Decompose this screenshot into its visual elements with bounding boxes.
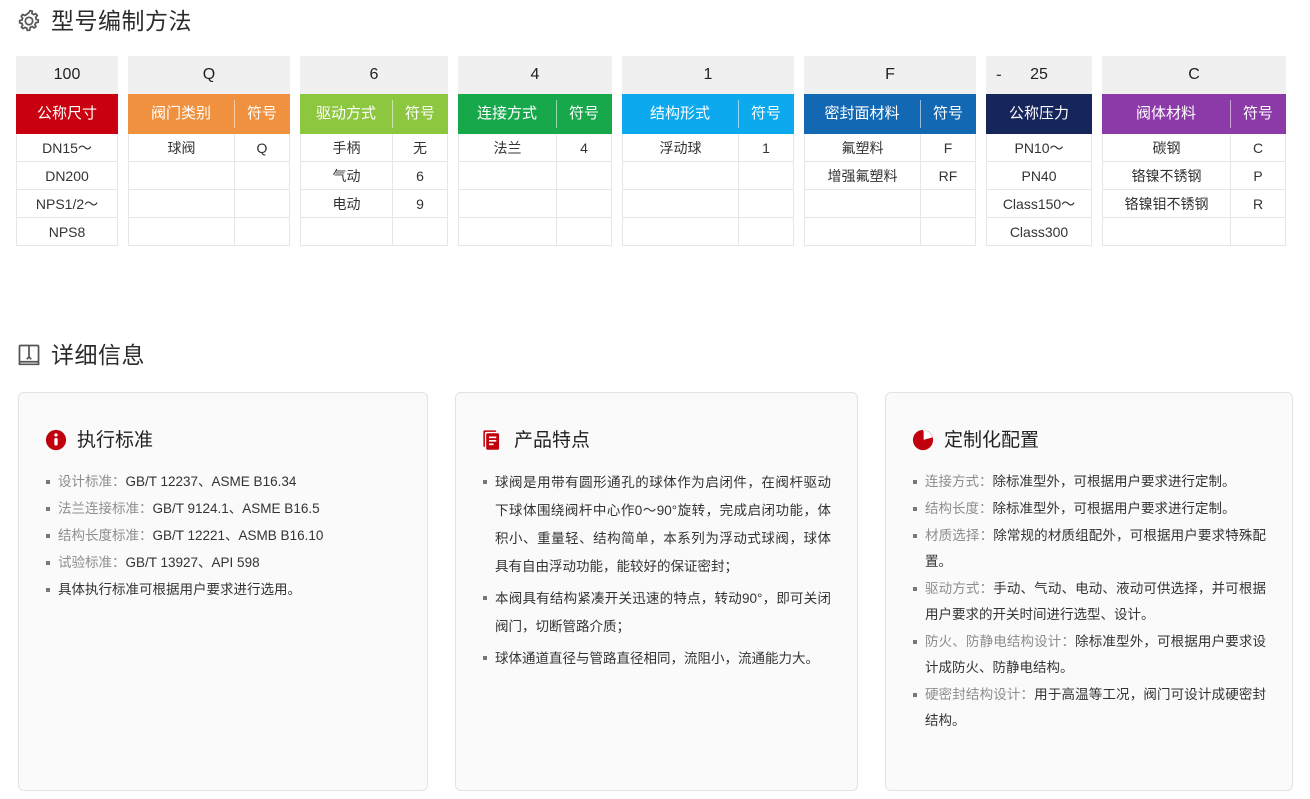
model-body-cell: NPS1/2～ bbox=[16, 190, 118, 218]
model-body-column: 法兰 bbox=[458, 134, 556, 246]
model-body-cell bbox=[128, 218, 234, 246]
model-body-cell bbox=[804, 218, 920, 246]
model-body-column: DN15～DN200NPS1/2～NPS8 bbox=[16, 134, 118, 246]
model-body: 球阀 Q bbox=[128, 134, 290, 246]
model-body-cell bbox=[458, 190, 556, 218]
list-item: 具体执行标准可根据用户要求进行选用。 bbox=[45, 577, 401, 603]
card-list: 连接方式：除标准型外，可根据用户要求进行定制。结构长度：除标准型外，可根据用户要… bbox=[912, 469, 1266, 734]
model-body-cell: 铬镍不锈钢 bbox=[1102, 162, 1230, 190]
model-body-cell: NPS8 bbox=[16, 218, 118, 246]
model-body-cell: DN15～ bbox=[16, 134, 118, 162]
model-header-row: 连接方式符号 bbox=[458, 94, 612, 134]
model-body-cell bbox=[234, 218, 290, 246]
list-item-text: 球阀是用带有圆形通孔的球体作为启闭件，在阀杆驱动下球体围绕阀杆中心作0～90°旋… bbox=[495, 475, 831, 574]
model-header-row: 阀门类别符号 bbox=[128, 94, 290, 134]
model-body-cell bbox=[556, 190, 612, 218]
model-body: 氟塑料增强氟塑料 FRF bbox=[804, 134, 976, 246]
book-icon bbox=[16, 342, 42, 368]
list-item-text: GB/T 12237、ASME B16.34 bbox=[126, 474, 297, 489]
card-execution-standard: 执行标准 设计标准：GB/T 12237、ASME B16.34法兰连接标准：G… bbox=[18, 392, 428, 791]
model-body-cell bbox=[920, 218, 976, 246]
list-item-label: 结构长度标准： bbox=[58, 528, 153, 543]
documents-icon bbox=[482, 429, 504, 451]
model-body-cell: PN10～ bbox=[986, 134, 1092, 162]
model-body-cell: DN200 bbox=[16, 162, 118, 190]
list-item-text: GB/T 9124.1、ASME B16.5 bbox=[153, 501, 320, 516]
list-item: 硬密封结构设计：用于高温等工况，阀门可设计成硬密封结构。 bbox=[912, 682, 1266, 734]
model-body-cell: 球阀 bbox=[128, 134, 234, 162]
model-body-cell bbox=[392, 218, 448, 246]
model-body-cell: 碳钢 bbox=[1102, 134, 1230, 162]
model-header-row: 密封面材料符号 bbox=[804, 94, 976, 134]
detail-title: 详细信息 bbox=[51, 344, 145, 367]
list-item: 驱动方式：手动、气动、电动、液动可供选择，并可根据用户要求的开关时间进行选型、设… bbox=[912, 576, 1266, 628]
model-header-cell: 阀体材料 bbox=[1102, 94, 1230, 134]
model-header-cell: 公称尺寸 bbox=[16, 94, 118, 134]
list-item: 结构长度：除标准型外，可根据用户要求进行定制。 bbox=[912, 496, 1266, 522]
model-body-column: Q bbox=[234, 134, 290, 246]
model-body: DN15～DN200NPS1/2～NPS8 bbox=[16, 134, 118, 246]
model-body-column: 碳钢铬镍不锈钢铬镍钼不锈钢 bbox=[1102, 134, 1230, 246]
list-item: 设计标准：GB/T 12237、ASME B16.34 bbox=[45, 469, 401, 495]
gear-icon bbox=[16, 8, 42, 34]
list-item: 连接方式：除标准型外，可根据用户要求进行定制。 bbox=[912, 469, 1266, 495]
list-item-label: 驱动方式： bbox=[925, 581, 993, 596]
model-body-cell: F bbox=[920, 134, 976, 162]
model-group: F密封面材料符号氟塑料增强氟塑料 FRF bbox=[804, 56, 976, 246]
model-body-cell bbox=[1102, 218, 1230, 246]
model-code-cell: 6 bbox=[300, 56, 448, 94]
model-body-cell bbox=[234, 162, 290, 190]
model-header-cell: 符号 bbox=[920, 94, 976, 134]
card-title: 产品特点 bbox=[514, 431, 590, 450]
model-body-cell: 1 bbox=[738, 134, 794, 162]
model-group: 4连接方式符号法兰 4 bbox=[458, 56, 612, 246]
model-body-cell bbox=[622, 218, 738, 246]
model-body: PN10～PN40Class150～Class300 bbox=[986, 134, 1092, 246]
code-separator-dash: - bbox=[996, 66, 1002, 83]
list-item: 球阀是用带有圆形通孔的球体作为启闭件，在阀杆驱动下球体围绕阀杆中心作0～90°旋… bbox=[482, 469, 831, 581]
model-body-column: 氟塑料增强氟塑料 bbox=[804, 134, 920, 246]
model-body-column: 球阀 bbox=[128, 134, 234, 246]
model-body: 手柄气动电动 无69 bbox=[300, 134, 448, 246]
card-header: 执行标准 bbox=[45, 429, 401, 451]
list-item-label: 材质选择： bbox=[925, 528, 993, 543]
model-body-cell: P bbox=[1230, 162, 1286, 190]
list-item: 材质选择：除常规的材质组配外，可根据用户要求特殊配置。 bbox=[912, 523, 1266, 575]
model-body-cell: 增强氟塑料 bbox=[804, 162, 920, 190]
model-body-cell bbox=[622, 190, 738, 218]
model-body-cell bbox=[622, 162, 738, 190]
list-item-text: GB/T 13927、API 598 bbox=[126, 555, 260, 570]
model-code-cell: 1 bbox=[622, 56, 794, 94]
model-body-cell bbox=[556, 162, 612, 190]
model-body-column: 4 bbox=[556, 134, 612, 246]
model-header-cell: 连接方式 bbox=[458, 94, 556, 134]
list-item-label: 硬密封结构设计： bbox=[925, 687, 1034, 702]
model-group: 6驱动方式符号手柄气动电动 无69 bbox=[300, 56, 448, 246]
pie-chart-icon bbox=[912, 429, 934, 451]
list-item-label: 设计标准： bbox=[58, 474, 126, 489]
model-body-cell bbox=[128, 162, 234, 190]
list-item-label: 连接方式： bbox=[925, 474, 993, 489]
model-body-cell: 电动 bbox=[300, 190, 392, 218]
list-item-text: GB/T 12221、ASMB B16.10 bbox=[153, 528, 324, 543]
model-body: 浮动球 1 bbox=[622, 134, 794, 246]
model-group: 1结构形式符号浮动球 1 bbox=[622, 56, 794, 246]
model-body-cell: C bbox=[1230, 134, 1286, 162]
model-body-column: 浮动球 bbox=[622, 134, 738, 246]
model-body-column: 手柄气动电动 bbox=[300, 134, 392, 246]
model-body-column: 1 bbox=[738, 134, 794, 246]
model-code-cell: Q bbox=[128, 56, 290, 94]
list-item-text: 具体执行标准可根据用户要求进行选用。 bbox=[58, 582, 301, 597]
model-body: 碳钢铬镍不锈钢铬镍钼不锈钢 CPR bbox=[1102, 134, 1286, 246]
model-header-cell: 符号 bbox=[392, 94, 448, 134]
list-item: 试验标准：GB/T 13927、API 598 bbox=[45, 550, 401, 576]
model-header-cell: 阀门类别 bbox=[128, 94, 234, 134]
list-item-text: 除标准型外，可根据用户要求进行定制。 bbox=[993, 501, 1236, 516]
model-body-cell: 铬镍钼不锈钢 bbox=[1102, 190, 1230, 218]
model-header-cell: 结构形式 bbox=[622, 94, 738, 134]
model-body-cell: Class300 bbox=[986, 218, 1092, 246]
section-header-model: 型号编制方法 bbox=[0, 8, 192, 34]
model-body-column: 无69 bbox=[392, 134, 448, 246]
model-code-cell: 4 bbox=[458, 56, 612, 94]
list-item-text: 本阀具有结构紧凑开关迅速的特点，转动90°，即可关闭阀门，切断管路介质； bbox=[495, 591, 831, 634]
model-body-cell: 无 bbox=[392, 134, 448, 162]
card-product-features: 产品特点 球阀是用带有圆形通孔的球体作为启闭件，在阀杆驱动下球体围绕阀杆中心作0… bbox=[455, 392, 858, 791]
model-body-cell: 9 bbox=[392, 190, 448, 218]
list-item-text: 球体通道直径与管路直径相同，流阻小，流通能力大。 bbox=[495, 651, 819, 666]
model-body-cell: 6 bbox=[392, 162, 448, 190]
page-root: 型号编制方法 100公称尺寸DN15～DN200NPS1/2～NPS8Q阀门类别… bbox=[0, 0, 1310, 799]
model-body-cell: 氟塑料 bbox=[804, 134, 920, 162]
model-body-cell: Q bbox=[234, 134, 290, 162]
list-item-label: 试验标准： bbox=[58, 555, 126, 570]
model-body-cell bbox=[738, 190, 794, 218]
info-circle-icon bbox=[45, 429, 67, 451]
model-code-cell: 100 bbox=[16, 56, 118, 94]
list-item: 防火、防静电结构设计：除标准型外，可根据用户要求设计成防火、防静电结构。 bbox=[912, 629, 1266, 681]
card-header: 产品特点 bbox=[482, 429, 831, 451]
model-body-cell: R bbox=[1230, 190, 1286, 218]
model-code-cell: 25 bbox=[986, 56, 1092, 94]
model-header-row: 公称尺寸 bbox=[16, 94, 118, 134]
model-body-cell: 气动 bbox=[300, 162, 392, 190]
list-item-label: 法兰连接标准： bbox=[58, 501, 153, 516]
model-code-cell: F bbox=[804, 56, 976, 94]
model-header-row: 公称压力 bbox=[986, 94, 1092, 134]
list-item-label: 防火、防静电结构设计： bbox=[925, 634, 1075, 649]
model-body-cell bbox=[128, 190, 234, 218]
model-body-cell bbox=[1230, 218, 1286, 246]
model-body-cell: RF bbox=[920, 162, 976, 190]
section-header-detail: 详细信息 bbox=[0, 342, 145, 368]
model-header-cell: 公称压力 bbox=[986, 94, 1092, 134]
model-body-cell: 手柄 bbox=[300, 134, 392, 162]
card-title: 定制化配置 bbox=[944, 431, 1039, 450]
list-item-text: 除标准型外，可根据用户要求进行定制。 bbox=[993, 474, 1236, 489]
card-list: 设计标准：GB/T 12237、ASME B16.34法兰连接标准：GB/T 9… bbox=[45, 469, 401, 603]
model-group: Q阀门类别符号球阀 Q bbox=[128, 56, 290, 246]
model-group: 100公称尺寸DN15～DN200NPS1/2～NPS8 bbox=[16, 56, 118, 246]
model-header-row: 结构形式符号 bbox=[622, 94, 794, 134]
model-header-row: 阀体材料符号 bbox=[1102, 94, 1286, 134]
model-body-cell bbox=[458, 218, 556, 246]
model-body-column: PN10～PN40Class150～Class300 bbox=[986, 134, 1092, 246]
card-list: 球阀是用带有圆形通孔的球体作为启闭件，在阀杆驱动下球体围绕阀杆中心作0～90°旋… bbox=[482, 469, 831, 673]
model-body-cell bbox=[920, 190, 976, 218]
model-group: 25公称压力PN10～PN40Class150～Class300 bbox=[986, 56, 1092, 246]
model-body-cell: Class150～ bbox=[986, 190, 1092, 218]
model-header-cell: 密封面材料 bbox=[804, 94, 920, 134]
model-header-row: 驱动方式符号 bbox=[300, 94, 448, 134]
list-item: 球体通道直径与管路直径相同，流阻小，流通能力大。 bbox=[482, 645, 831, 673]
model-body-cell bbox=[458, 162, 556, 190]
card-header: 定制化配置 bbox=[912, 429, 1266, 451]
model-body-cell bbox=[234, 190, 290, 218]
list-item: 本阀具有结构紧凑开关迅速的特点，转动90°，即可关闭阀门，切断管路介质； bbox=[482, 585, 831, 641]
model-body-cell bbox=[556, 218, 612, 246]
model-header-cell: 符号 bbox=[234, 94, 290, 134]
list-item: 法兰连接标准：GB/T 9124.1、ASME B16.5 bbox=[45, 496, 401, 522]
model-code-cell: C bbox=[1102, 56, 1286, 94]
model-header-cell: 符号 bbox=[556, 94, 612, 134]
model-coding-table: 100公称尺寸DN15～DN200NPS1/2～NPS8Q阀门类别符号球阀 Q … bbox=[16, 56, 1286, 246]
card-title: 执行标准 bbox=[77, 431, 153, 450]
model-body-cell bbox=[804, 190, 920, 218]
list-item: 结构长度标准：GB/T 12221、ASMB B16.10 bbox=[45, 523, 401, 549]
model-body: 法兰 4 bbox=[458, 134, 612, 246]
page-title: 型号编制方法 bbox=[51, 10, 192, 33]
model-group: C阀体材料符号碳钢铬镍不锈钢铬镍钼不锈钢 CPR bbox=[1102, 56, 1286, 246]
card-custom-config: 定制化配置 连接方式：除标准型外，可根据用户要求进行定制。结构长度：除标准型外，… bbox=[885, 392, 1293, 791]
model-header-cell: 符号 bbox=[738, 94, 794, 134]
model-body-cell bbox=[738, 162, 794, 190]
model-body-cell: 法兰 bbox=[458, 134, 556, 162]
model-body-cell: PN40 bbox=[986, 162, 1092, 190]
model-body-cell bbox=[300, 218, 392, 246]
model-body-column: FRF bbox=[920, 134, 976, 246]
model-body-cell bbox=[738, 218, 794, 246]
model-header-cell: 驱动方式 bbox=[300, 94, 392, 134]
model-header-cell: 符号 bbox=[1230, 94, 1286, 134]
list-item-label: 结构长度： bbox=[925, 501, 993, 516]
model-body-column: CPR bbox=[1230, 134, 1286, 246]
model-body-cell: 4 bbox=[556, 134, 612, 162]
model-body-cell: 浮动球 bbox=[622, 134, 738, 162]
